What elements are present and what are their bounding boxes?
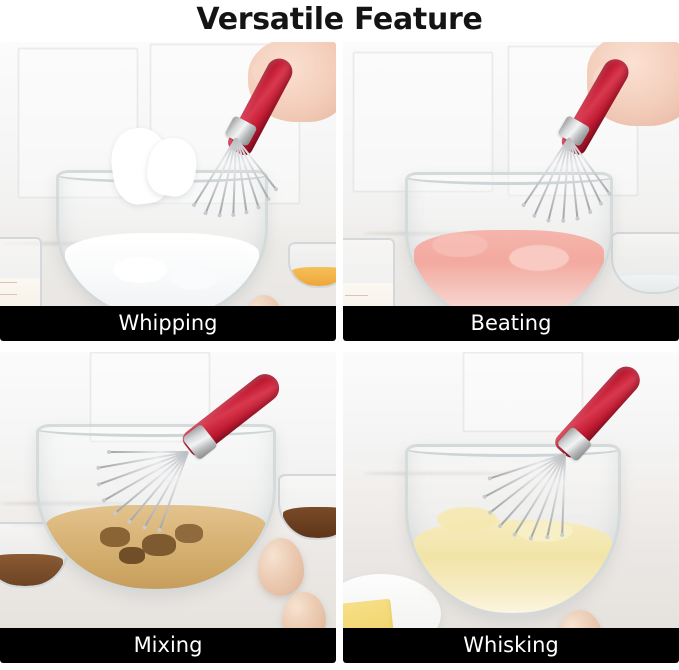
caption-label: Whipping	[118, 313, 217, 334]
whisk-wires	[567, 138, 569, 140]
scene-whisking	[343, 352, 679, 663]
foam-blob	[113, 257, 167, 283]
panel-mixing[interactable]: Mixing	[0, 352, 336, 663]
panel-beating[interactable]: Beating	[343, 42, 679, 341]
scene-whipping	[0, 42, 336, 341]
caption-label: Beating	[471, 313, 552, 334]
caption-bar-whisking: Whisking	[343, 628, 679, 663]
panel-whisking[interactable]: Whisking	[343, 352, 679, 663]
panel-grid: Whipping	[0, 42, 679, 666]
whisk-wire	[193, 137, 237, 206]
cabinet-panel	[353, 52, 493, 192]
scene-beating	[343, 42, 679, 341]
cream-swirl	[509, 245, 569, 271]
whisk-wires	[234, 138, 236, 140]
caption-label: Mixing	[134, 635, 203, 656]
nut-chunk	[175, 524, 203, 543]
whisk-tool	[463, 354, 673, 534]
small-glass-bowl	[611, 232, 679, 294]
nut-chunk	[142, 534, 176, 556]
foam-blob	[170, 268, 218, 290]
caption-bar-beating: Beating	[343, 306, 679, 341]
whisk-wires	[186, 452, 188, 454]
whisk-tool	[172, 58, 302, 218]
whisk-tool	[90, 356, 320, 526]
whisk-wire	[108, 451, 188, 453]
scene-mixing	[0, 352, 336, 663]
panel-whipping[interactable]: Whipping	[0, 42, 336, 341]
cup-tick	[0, 282, 17, 283]
caption-bar-mixing: Mixing	[0, 628, 336, 663]
whisk-wires	[563, 454, 565, 456]
caption-label: Whisking	[463, 635, 558, 656]
page-title: Versatile Feature	[196, 5, 482, 35]
cup-tick	[345, 295, 369, 296]
brown-egg	[258, 538, 304, 596]
infographic-page: Versatile Feature	[0, 0, 679, 670]
nut-chunk	[100, 527, 130, 547]
whisk-tool	[503, 54, 643, 224]
caption-bar-whipping: Whipping	[0, 306, 336, 341]
cup-tick	[0, 294, 17, 295]
whisk-wire	[522, 137, 570, 206]
nut-chunk	[119, 547, 145, 564]
title-bar: Versatile Feature	[0, 0, 679, 40]
